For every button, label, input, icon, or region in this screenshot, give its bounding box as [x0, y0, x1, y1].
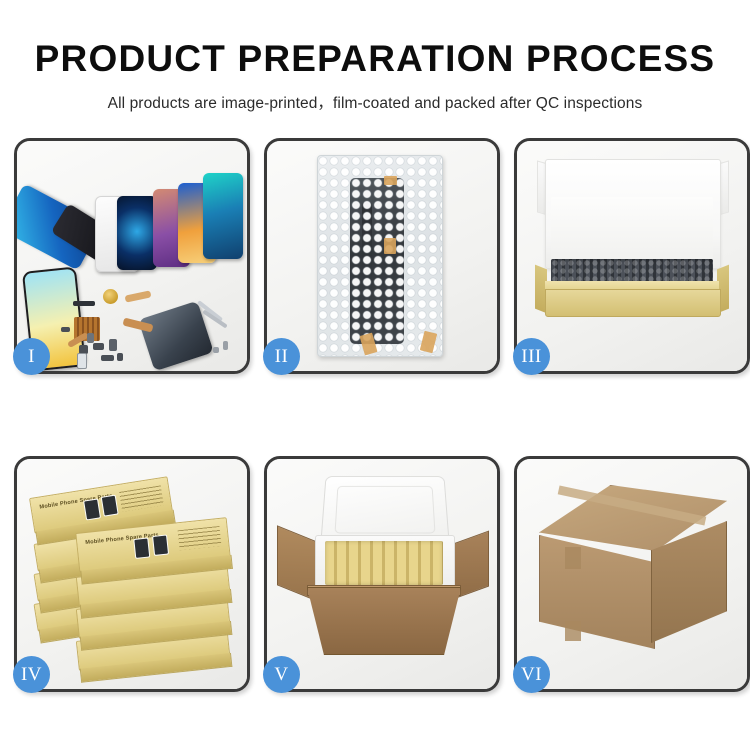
battery-component-icon: [77, 353, 87, 369]
step-badge-4: IV: [13, 656, 50, 693]
small-component-icon: [93, 343, 104, 350]
connector-bar-icon: [73, 301, 95, 306]
screw-icon: [213, 347, 219, 353]
header: PRODUCT PREPARATION PROCESS All products…: [0, 0, 750, 113]
bubble-texture-icon: [318, 156, 442, 356]
infographic-page: PRODUCT PREPARATION PROCESS All products…: [0, 0, 750, 750]
carton-tab-icon: [565, 621, 581, 641]
step-badge-5: V: [263, 656, 300, 693]
page-title: PRODUCT PREPARATION PROCESS: [0, 40, 750, 77]
foam-sheet-icon: [551, 197, 713, 261]
step-image-3: [517, 141, 747, 371]
box-phone-graphic-icon: [152, 534, 169, 555]
page-subtitle: All products are image-printed，film-coat…: [0, 91, 750, 113]
screen-blue-wallpaper-icon: [117, 196, 157, 270]
small-component-icon: [101, 355, 114, 361]
small-component-icon: [109, 339, 117, 351]
step-card-3: III: [514, 138, 750, 374]
small-component-icon: [61, 327, 70, 332]
yellow-boxes-inside-icon: [325, 541, 443, 585]
step-card-6: VI: [514, 456, 750, 692]
box-phone-graphic-icon: [133, 537, 150, 558]
step-badge-1: I: [13, 338, 50, 375]
small-component-icon: [87, 333, 94, 343]
speaker-component-icon: [103, 289, 118, 304]
step-card-1: I: [14, 138, 250, 374]
step-badge-2: II: [263, 338, 300, 375]
flex-cable-icon: [125, 290, 152, 302]
step-card-2: II: [264, 138, 500, 374]
box-phone-graphic-icon: [101, 495, 119, 517]
process-steps-grid: I II: [14, 138, 736, 686]
stacked-boxes: Mobile Phone Spare Parts Mobile Phone Sp…: [31, 479, 233, 669]
small-component-icon: [117, 353, 123, 361]
screw-icon: [223, 341, 228, 350]
tape-strip-icon: [384, 176, 397, 185]
step-badge-6: VI: [513, 656, 550, 693]
screen-teal-wallpaper-icon: [203, 173, 243, 259]
step-card-5: V: [264, 456, 500, 692]
carton-front-face-icon: [539, 535, 655, 649]
bubble-wrap-bag: [317, 155, 443, 357]
step-card-4: Mobile Phone Spare Parts Mobile Phone Sp…: [14, 456, 250, 692]
tape-strip-icon: [384, 238, 396, 254]
box-phone-graphic-icon: [83, 498, 101, 520]
step-badge-3: III: [513, 338, 550, 375]
step-image-6: [517, 459, 747, 689]
phone-parts-illustration: [17, 141, 247, 371]
step-image-1: [17, 141, 247, 371]
step-image-5: [267, 459, 497, 689]
kraft-box-front-icon: [545, 289, 721, 317]
carton-body-icon: [307, 587, 461, 655]
step-image-4: Mobile Phone Spare Parts Mobile Phone Sp…: [17, 459, 247, 689]
carton-tab-icon: [565, 547, 581, 569]
step-image-2: [267, 141, 497, 371]
